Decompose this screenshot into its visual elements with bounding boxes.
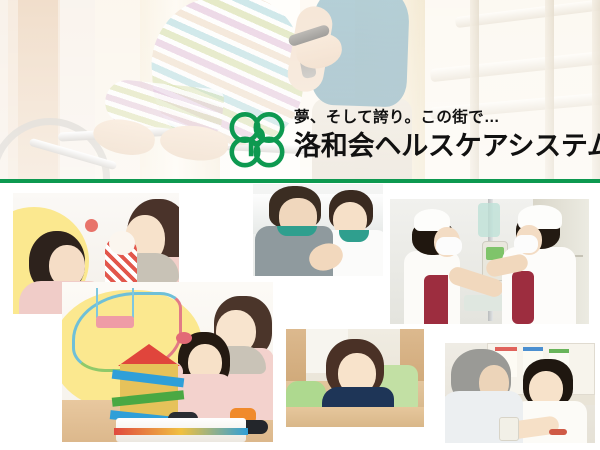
photo-nurse-patient[interactable]	[445, 343, 595, 443]
brand-lockup[interactable]: 夢、そして誇り。この街で… 洛和会ヘルスケアシステム ®	[228, 108, 600, 178]
photo-care-staff-interview[interactable]	[286, 329, 424, 427]
photo-nursery-playroom[interactable]	[62, 282, 273, 442]
brand-tagline: 夢、そして誇り。この街で…	[294, 110, 600, 126]
page-root: 夢、そして誇り。この街で… 洛和会ヘルスケアシステム ®	[0, 0, 600, 450]
brand-text-block: 夢、そして誇り。この街で… 洛和会ヘルスケアシステム ®	[294, 108, 600, 160]
photo-collage	[0, 184, 600, 450]
clover-logo-icon	[228, 112, 286, 176]
brand-name-row: 洛和会ヘルスケアシステム ®	[294, 133, 600, 160]
photo-nurses-iv-pole[interactable]	[390, 199, 589, 324]
photo-rehabilitation[interactable]	[253, 184, 383, 276]
header-banner: 夢、そして誇り。この街で… 洛和会ヘルスケアシステム ®	[0, 0, 600, 180]
brand-divider-rule	[0, 179, 600, 183]
company-name: 洛和会ヘルスケアシステム	[294, 133, 600, 160]
